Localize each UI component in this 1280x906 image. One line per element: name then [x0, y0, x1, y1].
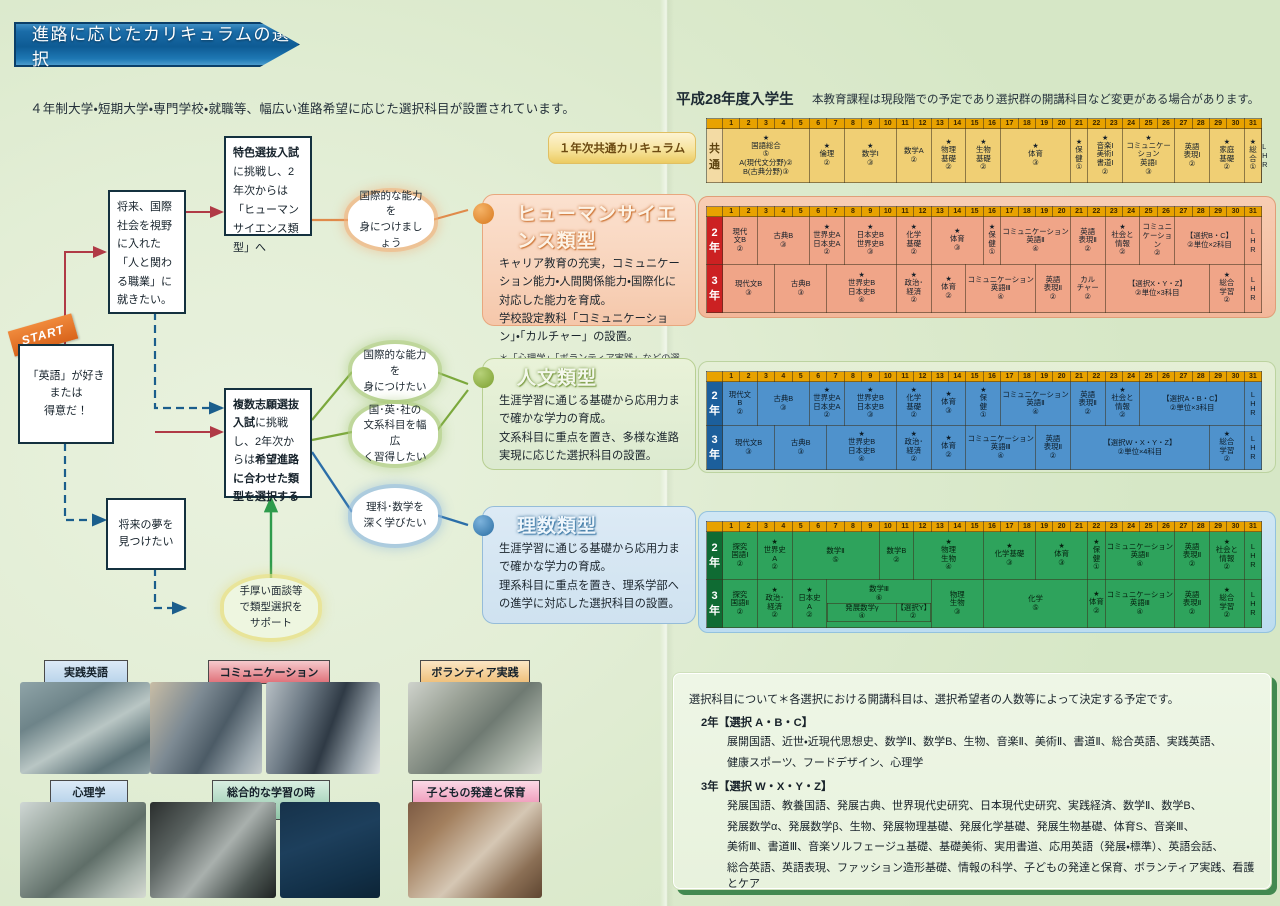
cell-line: B(古典分野)③: [723, 168, 809, 177]
period-number: 17: [1001, 207, 1018, 217]
curriculum-cell: 英語表現Ⅱ②: [1036, 265, 1071, 313]
period-number: 30: [1227, 119, 1244, 129]
period-number: 25: [1140, 522, 1157, 532]
note-group-year3: 3年【選択 W・X・Y・Z】: [673, 771, 1271, 794]
period-number: 18: [1018, 119, 1035, 129]
cell-line: H: [1245, 599, 1261, 608]
curriculum-cell: コミュニケーション英語Ⅱ④: [1105, 532, 1175, 580]
grid-corner: [707, 372, 723, 382]
grid-corner: [707, 522, 723, 532]
period-number: 12: [914, 372, 931, 382]
curriculum-cell: 古典B③: [757, 382, 809, 426]
curriculum-cell: ★化学基礎②: [896, 217, 931, 265]
cell-line: ②: [1088, 168, 1122, 177]
photo-practical-english: [20, 682, 150, 774]
curriculum-cell: コミュニケーション英語Ⅱ④: [1001, 217, 1071, 265]
flow-box-tokushoku-exam: 特色選抜入試に挑戦し、2年次からは「ヒューマンサイエンス類型」へ: [224, 136, 312, 236]
cell-line: ②: [758, 563, 792, 572]
photo-communication-1: [150, 682, 262, 774]
curriculum-cell: 【選択B・C】②単位×2科目: [1175, 217, 1245, 265]
period-number: 13: [931, 119, 948, 129]
cell-line: ②: [1175, 160, 1209, 169]
cell-line: ②: [1210, 611, 1244, 620]
cell-line: ②: [758, 611, 792, 620]
curriculum-cell: 【選択W・X・Y・Z】②単位×4科目: [1070, 426, 1209, 470]
curriculum-cell: ★社会と情報②: [1105, 382, 1140, 426]
note-year3-line-1: 発展国語、教養国語、発展古典、世界現代史研究、日本現代史研究、実践経済、数学Ⅱ、…: [673, 794, 1271, 815]
curriculum-cell: ★世界史B日本史B③: [844, 382, 896, 426]
period-number-row: 1234567891011121314151617181920212223242…: [707, 119, 1262, 129]
period-number: 27: [1175, 522, 1192, 532]
curriculum-cell: 現代文B②: [723, 382, 758, 426]
cell-line: ②: [897, 296, 931, 305]
period-number: 17: [1001, 372, 1018, 382]
period-number: 10: [879, 522, 896, 532]
period-number: 7: [827, 522, 844, 532]
curriculum-cell: ★総合学習②: [1209, 580, 1244, 628]
period-number: 28: [1192, 522, 1209, 532]
photo-integrated-study-lecture: [150, 802, 276, 898]
cell-line: ②: [966, 163, 1000, 172]
period-number: 30: [1227, 372, 1244, 382]
flow-box-start: 「英語」が好き または 得意だ！: [18, 344, 114, 444]
year-label: 3年: [707, 265, 723, 313]
curriculum-cell: 数学Ⅲ⑥発展数学γ④【選択Y】②: [827, 580, 931, 628]
period-number: 15: [966, 372, 983, 382]
grid-corner: [707, 119, 723, 129]
period-number: 7: [827, 372, 844, 382]
photo-psychology: [20, 802, 146, 898]
cell-line: ②: [1175, 560, 1209, 569]
period-number: 19: [1036, 119, 1053, 129]
period-number: 22: [1088, 522, 1105, 532]
panel-dot-human-science-icon: [473, 203, 494, 224]
period-number: 29: [1209, 522, 1226, 532]
period-number: 8: [844, 207, 861, 217]
cell-line: ②: [897, 156, 931, 165]
period-number: 26: [1157, 119, 1174, 129]
cell-line: ②: [810, 159, 844, 168]
cell-line: ②: [723, 608, 757, 617]
cell-line: R: [1245, 560, 1261, 569]
cell-line: ③: [775, 289, 826, 298]
period-number: 3: [757, 522, 774, 532]
curriculum-cell: ★世界史A日本史A②: [809, 382, 844, 426]
cell-line: ①: [1088, 563, 1104, 572]
period-number: 2: [740, 119, 757, 129]
year-label: 共通: [707, 129, 723, 183]
curriculum-cell: 古典B③: [757, 217, 809, 265]
year-label: 2年: [707, 382, 723, 426]
cell-line: ②単位×4科目: [1071, 448, 1209, 457]
curriculum-cell: ★政治･経済②: [896, 426, 931, 470]
period-number: 15: [966, 522, 983, 532]
curriculum-cell: 数学B②: [879, 532, 914, 580]
period-number: 27: [1175, 372, 1192, 382]
period-number: 31: [1244, 119, 1261, 129]
curriculum-cell: 現代文B②: [723, 217, 758, 265]
cell-line: ③: [932, 608, 983, 617]
period-number: 21: [1070, 119, 1087, 129]
cell-line: ①: [1071, 163, 1087, 172]
period-number: 2: [740, 372, 757, 382]
cell-line: ②: [1071, 245, 1105, 254]
cell-line: ④: [1106, 608, 1175, 617]
cell-line: ③: [932, 407, 966, 416]
curriculum-cell: ★世界史A日本史A②: [809, 217, 844, 265]
curriculum-cell: ★倫理②: [809, 129, 844, 183]
type-title-humanities: 人文類型: [483, 359, 695, 392]
curriculum-cell: ★国語総合⑤A(現代文分野)②B(古典分野)③: [723, 129, 810, 183]
note-year2-line-1: 展開国語、近世・近現代思想史、数学Ⅱ、数学B、生物、音楽Ⅱ、美術Ⅱ、書道Ⅱ、総合…: [673, 730, 1271, 751]
period-number: 24: [1122, 522, 1139, 532]
period-number: 20: [1053, 207, 1070, 217]
period-number: 8: [844, 522, 861, 532]
cell-line: H: [1245, 236, 1261, 245]
curriculum-cell: ★体育③: [1036, 532, 1088, 580]
period-number: 31: [1244, 372, 1261, 382]
type-body-science: 生涯学習に通じる基礎から応用力まで確かな学力の育成。 理系科目に重点を置き、理系…: [483, 540, 695, 617]
period-number: 14: [949, 207, 966, 217]
curriculum-cell: LHR: [1244, 382, 1261, 426]
photo-child-development: [408, 802, 542, 898]
note-year3-line-3: 美術Ⅲ、書道Ⅲ、音楽ソルフェージュ基礎、基礎美術、実用書道、応用英語（発展・標準…: [673, 835, 1271, 856]
curriculum-cell: ★政治･経済②: [757, 580, 792, 628]
curriculum-cell: ★保健①: [983, 217, 1000, 265]
curriculum-cell: 数学A②: [896, 129, 931, 183]
curriculum-cell: 英語表現Ⅰ②: [1175, 129, 1210, 183]
period-number: 29: [1209, 207, 1226, 217]
curriculum-cell: ★物理基礎②: [931, 129, 966, 183]
photo-caption-volunteer: ボランティア実践: [420, 660, 530, 684]
period-number: 23: [1105, 119, 1122, 129]
cell-line: L: [1245, 275, 1261, 284]
curriculum-cell: 英語表現Ⅱ②: [1175, 532, 1210, 580]
cell-line: H: [1245, 399, 1261, 408]
cell-line: ④: [966, 293, 1035, 302]
period-number: 22: [1088, 207, 1105, 217]
cell-line: H: [1245, 284, 1261, 293]
curriculum-cell: 英語表現Ⅱ②: [1070, 217, 1105, 265]
cell-line: ②: [897, 612, 930, 621]
curriculum-cell: LHR: [1244, 580, 1261, 628]
cell-line: R: [1245, 452, 1261, 461]
curriculum-subcell: 【選択Y】②: [896, 603, 930, 621]
cell-line: ④: [966, 452, 1035, 461]
cell-line: ②: [1036, 293, 1070, 302]
photo-communication-2: [266, 682, 380, 774]
period-number: 26: [1157, 207, 1174, 217]
cell-line: ②: [1106, 248, 1140, 257]
flow-box-international-career: 将来、国際社会を視野に入れた「人と関わる職業」に就きたい。: [108, 190, 186, 314]
period-number: 14: [949, 522, 966, 532]
curriculum-cell: ★総合学習②: [1209, 265, 1244, 313]
cell-line: R: [1245, 608, 1261, 617]
period-number: 5: [792, 207, 809, 217]
period-number: 22: [1088, 119, 1105, 129]
curriculum-row: 2年現代文B②古典B③★世界史A日本史A②★世界史B日本史B③★化学基礎②★体育…: [707, 382, 1262, 426]
period-number: 6: [809, 522, 826, 532]
period-number-row: 1234567891011121314151617181920212223242…: [707, 372, 1262, 382]
period-number: 25: [1140, 119, 1157, 129]
curriculum-cell: LHR: [1244, 426, 1261, 470]
cell-line: ④: [827, 455, 896, 464]
period-number: 12: [914, 119, 931, 129]
curriculum-row: 3年探究国語Ⅱ②★政治･経済②★日本史A②数学Ⅲ⑥発展数学γ④【選択Y】②物理生…: [707, 580, 1262, 628]
period-number: 5: [792, 522, 809, 532]
cell-line: ④: [827, 296, 896, 305]
cell-line: ②単位×2科目: [1175, 241, 1244, 250]
note-heading: 選択科目について＊各選択における開講科目は、選択希望者の人数等によって決定する予…: [673, 673, 1271, 707]
period-number: 28: [1192, 119, 1209, 129]
period-number: 6: [809, 372, 826, 382]
type-title-human-science: ヒューマンサイエンス類型: [483, 195, 695, 255]
cell-line: ②: [723, 560, 757, 569]
period-number: 1: [723, 207, 740, 217]
curriculum-cell: ★生物基礎②: [966, 129, 1001, 183]
period-number: 25: [1140, 207, 1157, 217]
period-number: 23: [1105, 522, 1122, 532]
period-number: 2: [740, 522, 757, 532]
curriculum-cell: 英語表現Ⅱ②: [1175, 580, 1210, 628]
period-number: 2: [740, 207, 757, 217]
curriculum-cell: ★保健①: [1088, 532, 1105, 580]
period-number: 13: [931, 372, 948, 382]
period-number: 3: [757, 207, 774, 217]
cell-line: ②: [1175, 608, 1209, 617]
period-number: 5: [792, 372, 809, 382]
curriculum-cell: ★化学基礎③: [983, 532, 1035, 580]
curriculum-cell: ★世界史A②: [757, 532, 792, 580]
curriculum-cell: ★家庭基礎②: [1209, 129, 1244, 183]
period-number: 6: [809, 119, 826, 129]
period-number: 10: [879, 372, 896, 382]
curriculum-cell: コミュニケーション英語Ⅲ④: [1105, 580, 1175, 628]
curriculum-row: 2年現代文B②古典B③★世界史A日本史A②★日本史B世界史B③★化学基礎②★体育…: [707, 217, 1262, 265]
cell-line: ③: [1001, 159, 1070, 168]
cell-line: H: [1245, 551, 1261, 560]
curriculum-cell: ★数学Ⅰ③: [844, 129, 896, 183]
period-number: 12: [914, 207, 931, 217]
curriculum-cell: 探究国語Ⅱ②: [723, 580, 758, 628]
year-label: 2年: [707, 217, 723, 265]
curriculum-table-humanities: 1234567891011121314151617181920212223242…: [706, 371, 1262, 470]
period-number: 21: [1070, 207, 1087, 217]
curriculum-cell: ★総合学習②: [1209, 426, 1244, 470]
period-number: 29: [1209, 372, 1226, 382]
curriculum-row: 3年現代文B③古典B③★世界史B日本史B④★政治･経済②★体育②コミュニケーショ…: [707, 265, 1262, 313]
curriculum-cell: 英語表現Ⅱ②: [1036, 426, 1071, 470]
period-number: 17: [1001, 119, 1018, 129]
curriculum-cell: 現代文B③: [723, 265, 775, 313]
curriculum-grid: 1234567891011121314151617181920212223242…: [706, 118, 1262, 183]
period-number: 7: [827, 119, 844, 129]
period-number: 3: [757, 372, 774, 382]
period-number: 1: [723, 119, 740, 129]
curriculum-cell: カルチャー②: [1070, 265, 1105, 313]
curriculum-cell: ★日本史B世界史B③: [844, 217, 896, 265]
period-number: 10: [879, 119, 896, 129]
period-number: 21: [1070, 522, 1087, 532]
period-number: 12: [914, 522, 931, 532]
period-number: 20: [1053, 119, 1070, 129]
type-panel-human-science: ヒューマンサイエンス類型 キャリア教育の充実，コミュニケーション能力・人間関係能…: [482, 194, 696, 326]
cell-line: ③: [723, 289, 774, 298]
curriculum-cell: 物理生物③: [931, 580, 983, 628]
period-number: 1: [723, 522, 740, 532]
curriculum-cell: 古典B③: [775, 426, 827, 470]
curriculum-cell: ★社会と情報②: [1209, 532, 1244, 580]
curriculum-cell: ★体育②: [931, 265, 966, 313]
flow-cloud-interview-support: 手厚い面談等 で類型選択を サポート: [224, 578, 318, 638]
year-label: 3年: [707, 426, 723, 470]
year-label: 2年: [707, 532, 723, 580]
cell-line: ケーション: [1140, 232, 1174, 249]
curriculum-cell: ★保健①: [966, 382, 1001, 426]
curriculum-cell: ★社会と情報②: [1105, 217, 1140, 265]
period-number: 29: [1209, 119, 1226, 129]
period-number: 22: [1088, 372, 1105, 382]
cell-line: ①: [984, 248, 1000, 257]
curriculum-cell: LHR: [1244, 265, 1261, 313]
period-number: 19: [1036, 522, 1053, 532]
period-number: 4: [775, 207, 792, 217]
flow-box-find-dream: 将来の夢を 見つけたい: [106, 498, 186, 570]
note-year3-line-2: 発展数学α、発展数学β、生物、発展物理基礎、発展化学基礎、発展生物基礎、体育S、…: [673, 815, 1271, 836]
panel-dot-science-icon: [473, 515, 494, 536]
type-panel-science: 理数類型 生涯学習に通じる基礎から応用力まで確かな学力の育成。 理系科目に重点を…: [482, 506, 696, 624]
cell-line: L: [1245, 590, 1261, 599]
period-number: 10: [879, 207, 896, 217]
period-number: 8: [844, 372, 861, 382]
cell-line: ③: [932, 244, 983, 253]
period-number: 9: [862, 207, 879, 217]
flow-cloud-science-math: 理科･数学を 深く学びたい: [352, 488, 438, 544]
cell-line: H: [1245, 443, 1261, 452]
period-number: 11: [896, 119, 913, 129]
period-number: 28: [1192, 372, 1209, 382]
cell-line: ②: [793, 611, 827, 620]
photo-caption-practical-english: 実践英語: [44, 660, 128, 684]
cell-line: ②: [1210, 563, 1244, 572]
cell-line: ①: [1245, 163, 1261, 172]
cell-line: ③: [758, 241, 809, 250]
cell-line: ④: [1001, 245, 1070, 254]
cell-line: ②: [932, 292, 966, 301]
period-number: 18: [1018, 522, 1035, 532]
curriculum-cell: ★世界史B日本史B④: [827, 265, 897, 313]
cell-line: ⑤: [793, 556, 879, 565]
period-number-row: 1234567891011121314151617181920212223242…: [707, 522, 1262, 532]
cell-line: ③: [1123, 168, 1174, 177]
curriculum-cell: LHR: [1244, 532, 1261, 580]
curriculum-table-human-science: 1234567891011121314151617181920212223242…: [706, 206, 1262, 313]
note-year2-line-2: 健康スポーツ、フードデザイン、心理学: [673, 751, 1271, 772]
period-number: 23: [1105, 372, 1122, 382]
period-number: 25: [1140, 372, 1157, 382]
year-label: 3年: [707, 580, 723, 628]
cell-line: ②: [810, 411, 844, 420]
note-year3-line-4: 総合英語、英語表現、ファッション造形基礎、情報の科学、子どもの発達と保育、ボラン…: [673, 856, 1271, 893]
period-number: 24: [1122, 372, 1139, 382]
cell-line: ②: [880, 556, 914, 565]
period-number: 21: [1070, 372, 1087, 382]
photo-caption-child-development: 子どもの発達と保育: [412, 780, 540, 804]
period-number: 14: [949, 372, 966, 382]
period-number: 24: [1122, 207, 1139, 217]
curriculum-row: 共通★国語総合⑤A(現代文分野)②B(古典分野)③★倫理②★数学Ⅰ③数学A②★物…: [707, 129, 1262, 183]
cell-line: ③: [845, 159, 896, 168]
curriculum-cell: ★保健①: [1070, 129, 1087, 183]
period-number: 16: [983, 119, 1000, 129]
cell-line: ②: [810, 248, 844, 257]
curriculum-cell: ★音楽Ⅰ美術Ⅰ書道Ⅰ②: [1088, 129, 1123, 183]
period-number: 7: [827, 207, 844, 217]
period-number: 17: [1001, 522, 1018, 532]
cell-line: ④: [1001, 408, 1070, 417]
cell-line: ②: [897, 455, 931, 464]
curriculum-cell: コミュニケーション英語Ⅲ④: [966, 265, 1036, 313]
fukusu-mid-1: 入試: [233, 417, 255, 429]
cell-line: ②: [1088, 607, 1104, 616]
curriculum-cell: コミュニケーション英語Ⅲ④: [966, 426, 1036, 470]
flow-cloud-liberal-arts: 国･英･社の 文系科目を幅広 く習得したい: [352, 404, 438, 464]
period-number: 9: [862, 522, 879, 532]
curriculum-grid: 1234567891011121314151617181920212223242…: [706, 371, 1262, 470]
curriculum-subgrid: 発展数学γ④【選択Y】②: [827, 603, 930, 622]
cell-line: R: [1245, 293, 1261, 302]
curriculum-cell: 現代文B③: [723, 426, 775, 470]
curriculum-cell: コミュニケーション英語Ⅱ④: [1001, 382, 1071, 426]
period-number: 31: [1244, 207, 1261, 217]
cell-line: ①: [966, 411, 1000, 420]
period-number: 1: [723, 372, 740, 382]
period-number: 18: [1018, 372, 1035, 382]
period-number: 18: [1018, 207, 1035, 217]
cell-line: ②: [723, 408, 757, 417]
period-number: 16: [983, 522, 1000, 532]
cell-line: ②: [1106, 411, 1140, 420]
period-number: 4: [775, 522, 792, 532]
curriculum-cell: ★政治･経済②: [896, 265, 931, 313]
cell-line: ③: [1036, 559, 1087, 568]
curriculum-grid: 1234567891011121314151617181920212223242…: [706, 521, 1262, 628]
photo-volunteer: [408, 682, 542, 774]
type-panel-humanities: 人文類型 生涯学習に通じる基礎から応用力まで確かな学力の育成。 文系科目に重点を…: [482, 358, 696, 470]
cell-line: ②: [1210, 296, 1244, 305]
cell-line: ③: [758, 404, 809, 413]
curriculum-cell: ★体育③: [931, 217, 983, 265]
flow-cloud-international-ability-2: 国際的な能力を 身につけたい: [352, 344, 438, 400]
cell-line: ②単位×3科目: [1106, 289, 1209, 298]
period-number: 4: [775, 119, 792, 129]
curriculum-cell: ★体育③: [1001, 129, 1071, 183]
period-number: 28: [1192, 207, 1209, 217]
cell-line: ③: [845, 411, 896, 420]
curriculum-cell: ★日本史A②: [792, 580, 827, 628]
photo-caption-psychology: 心理学: [50, 780, 128, 804]
period-number: 20: [1053, 372, 1070, 382]
period-number: 9: [862, 372, 879, 382]
curriculum-grid: 1234567891011121314151617181920212223242…: [706, 206, 1262, 313]
elective-courses-note: 選択科目について＊各選択における開講科目は、選択希望者の人数等によって決定する予…: [672, 672, 1272, 890]
grid-corner: [707, 207, 723, 217]
type-body-humanities: 生涯学習に通じる基礎から応用力まで確かな学力の育成。 文系科目に重点を置き、多様…: [483, 392, 695, 469]
period-number: 13: [931, 207, 948, 217]
period-number: 26: [1157, 522, 1174, 532]
type-title-science: 理数類型: [483, 507, 695, 540]
panel-dot-humanities-icon: [473, 367, 494, 388]
